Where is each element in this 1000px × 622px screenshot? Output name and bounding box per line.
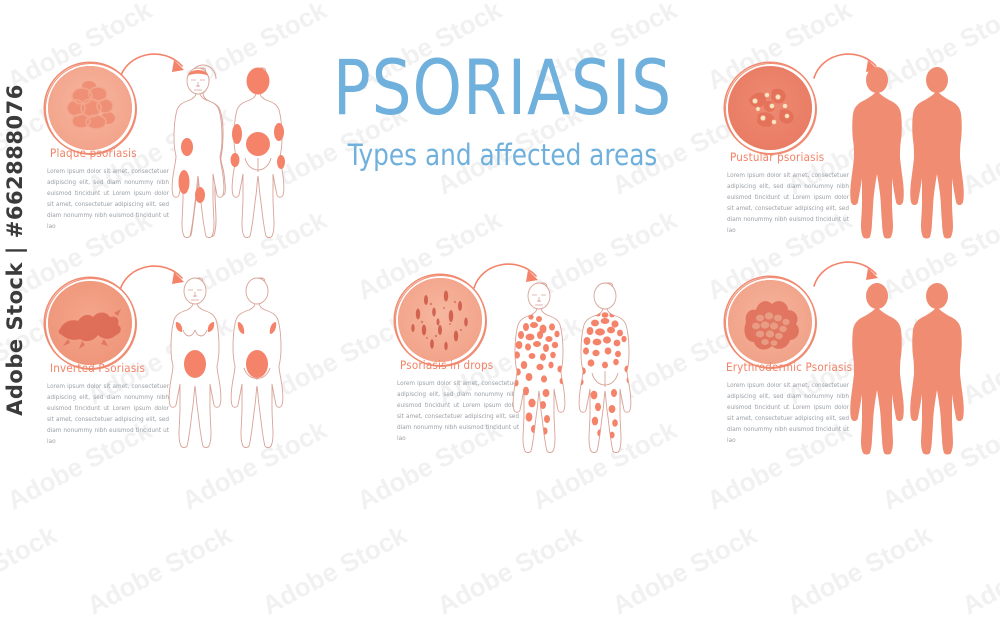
lesion-back-lower: [246, 132, 270, 156]
description-inverted: Lorem ipsum dolor sit amet, consectetuer…: [47, 381, 169, 447]
lesion-back-wrist-r: [277, 155, 285, 169]
watermark-tile: Adobe Stock: [0, 520, 62, 622]
swatch-ring-pustular: [725, 63, 817, 155]
description-pustular: Lorem ipsum dolor sit amet, consectetuer…: [727, 170, 849, 236]
figure-pair-pustular: [832, 62, 982, 242]
figure-pair-drops: [496, 277, 656, 467]
description-erythrodermic: Lorem ipsum dolor sit amet, consectetuer…: [727, 380, 849, 446]
lesion-back-elbow-l: [232, 124, 242, 144]
lesion-groin-back: [246, 350, 268, 378]
panel-inverted: Inverted Psoriasis Lorem ipsum dolor sit…: [0, 250, 300, 500]
label-psoriasis-in-drops: Psoriasis in drops: [400, 358, 493, 372]
panel-pustular: Pustular psoriasis Lorem ipsum dolor sit…: [700, 0, 1000, 250]
panel-erythrodermic: Erythrodermic Psoriasis Lorem ipsum dolo…: [700, 250, 1000, 500]
lesion-front-knee: [195, 187, 205, 203]
lesion-front-thigh: [179, 170, 190, 194]
infographic-canvas: Adobe StockAdobe StockAdobe StockAdobe S…: [0, 0, 1000, 500]
figure-pair-inverted: [152, 272, 292, 457]
figure-pair-plaque: [155, 62, 290, 242]
lesion-groin-front: [184, 350, 206, 378]
panel-drops: Psoriasis in drops Lorem ipsum dolor sit…: [380, 250, 700, 500]
description-plaque: Lorem ipsum dolor sit amet, consectetuer…: [47, 166, 169, 232]
lesion-front-hip: [181, 138, 193, 156]
label-plaque-psoriasis: Plaque psoriasis: [50, 146, 137, 160]
page-title: PSORIASIS: [321, 52, 684, 124]
swatch-ring-plaque: [45, 63, 137, 155]
swatch-ring-drops: [395, 275, 487, 367]
page-title-block: PSORIASIS Types and affected areas: [305, 52, 700, 172]
page-subtitle: Types and affected areas: [315, 138, 690, 172]
panel-plaque: Plaque psoriasis Lorem ipsum dolor sit a…: [0, 0, 300, 250]
swatch-ring-inverted: [45, 278, 137, 370]
watermark-tile: Adobe Stock: [607, 520, 762, 622]
watermark-tile: Adobe Stock: [432, 520, 587, 622]
watermark-tile: Adobe Stock: [257, 520, 412, 622]
label-inverted-psoriasis: Inverted Psoriasis: [50, 361, 145, 375]
lesion-back-elbow-r: [274, 123, 284, 141]
watermark-tile: Adobe Stock: [782, 520, 937, 622]
watermark-tile: Adobe Stock: [957, 520, 1000, 622]
lesion-back-wrist-l: [231, 153, 240, 167]
swatch-ring-erythrodermic: [725, 277, 817, 369]
watermark-tile: Adobe Stock: [82, 520, 237, 622]
figure-pair-erythrodermic: [832, 278, 982, 463]
label-pustular-psoriasis: Pustular psoriasis: [730, 150, 824, 164]
